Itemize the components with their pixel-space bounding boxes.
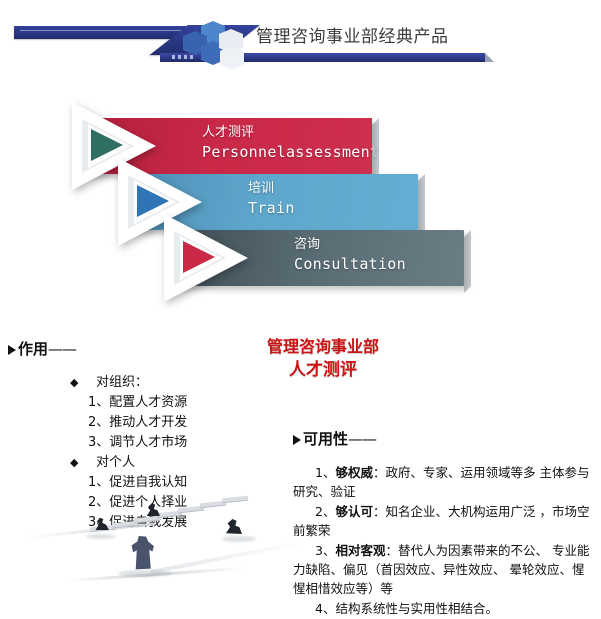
figure-shadow xyxy=(86,534,116,539)
list-item: 对个人 xyxy=(8,453,258,473)
list-item: 2、推动人才开发 xyxy=(8,413,258,433)
banner-label-cn: 咨询 xyxy=(294,236,406,254)
list-item: 1、够权威：政府、专家、运用领域等多 主体参与研究、验证 xyxy=(293,463,593,501)
arrow-bullet-icon xyxy=(8,345,16,355)
figure-shadow xyxy=(222,536,256,542)
product-banner-group: 人才测评 Personnelassessment 培训 Train 咨询 Con… xyxy=(0,96,601,301)
page-header: 管理咨询事业部经典产品 xyxy=(0,0,601,78)
list-item-number: 3、 xyxy=(315,543,335,558)
right-section-title-text: 可用性 xyxy=(303,430,348,448)
list-item-number: 2、 xyxy=(315,504,335,519)
header-title: 管理咨询事业部经典产品 xyxy=(256,22,449,47)
lower-content: 作用—— 对组织： 1、配置人才资源 2、推动人才开发 3、调节人才市场 对个人… xyxy=(0,330,601,614)
list-item: 2、够认可：知名企业、大机构运用广泛 ，市场空前繁荣 xyxy=(293,502,593,540)
right-section-dash: —— xyxy=(348,430,376,448)
right-bullet-list: 1、够权威：政府、专家、运用领域等多 主体参与研究、验证 2、够认可：知名企业、… xyxy=(293,463,593,618)
hexagon-icon xyxy=(220,51,244,65)
list-item-keyword: 够认可 xyxy=(335,504,373,519)
list-item: 1、配置人才资源 xyxy=(8,393,258,413)
person-silhouette xyxy=(146,502,160,516)
list-item-keyword: 相对客观 xyxy=(335,543,385,558)
banner-label-en: Personnelassessment xyxy=(202,142,379,162)
right-section-title: 可用性—— xyxy=(293,428,593,449)
list-item-label: 对个人 xyxy=(96,453,135,473)
left-section-title: 作用—— xyxy=(8,338,258,359)
center-red-title: 管理咨询事业部 人才测评 xyxy=(233,336,413,382)
arrow-bullet-icon xyxy=(293,435,301,445)
person-silhouette xyxy=(226,518,242,534)
list-item-label: 对组织： xyxy=(96,373,148,393)
hexagon-logo xyxy=(183,21,245,63)
play-triangle-icon xyxy=(164,214,260,302)
left-section-title-text: 作用 xyxy=(18,340,48,358)
banner-label: 人才测评 Personnelassessment xyxy=(202,124,379,162)
banner-label-en: Consultation xyxy=(294,254,406,274)
person-silhouette-main xyxy=(130,536,156,570)
left-section-dash: —— xyxy=(48,340,76,358)
list-item: 3、调节人才市场 xyxy=(8,433,258,453)
center-title-line2: 人才测评 xyxy=(233,358,413,382)
stair-step xyxy=(222,496,248,503)
banner-label-cn: 培训 xyxy=(248,180,295,198)
stairs-illustration xyxy=(26,478,306,608)
left-column: 作用—— 对组织： 1、配置人才资源 2、推动人才开发 3、调节人才市场 对个人… xyxy=(8,338,258,533)
banner-label-cn: 人才测评 xyxy=(202,124,379,142)
list-item: 3、相对客观：替代人为因素带来的不公、 专业能力缺陷、偏见（首因效应、异性效应、… xyxy=(293,541,593,598)
center-title-line1: 管理咨询事业部 xyxy=(233,336,413,358)
list-item: 4、结构系统性与实用性相结合。 xyxy=(293,599,593,618)
right-column: 可用性—— 1、够权威：政府、专家、运用领域等多 主体参与研究、验证 2、够认可… xyxy=(293,428,593,619)
figure-shadow xyxy=(118,570,172,577)
header-bar-top xyxy=(14,26,194,39)
banner-label: 培训 Train xyxy=(248,180,295,218)
list-item: 对组织： xyxy=(8,373,258,393)
list-item-number: 1、 xyxy=(315,465,335,480)
list-item-keyword: 够权威 xyxy=(335,465,373,480)
banner-label: 咨询 Consultation xyxy=(294,236,406,274)
